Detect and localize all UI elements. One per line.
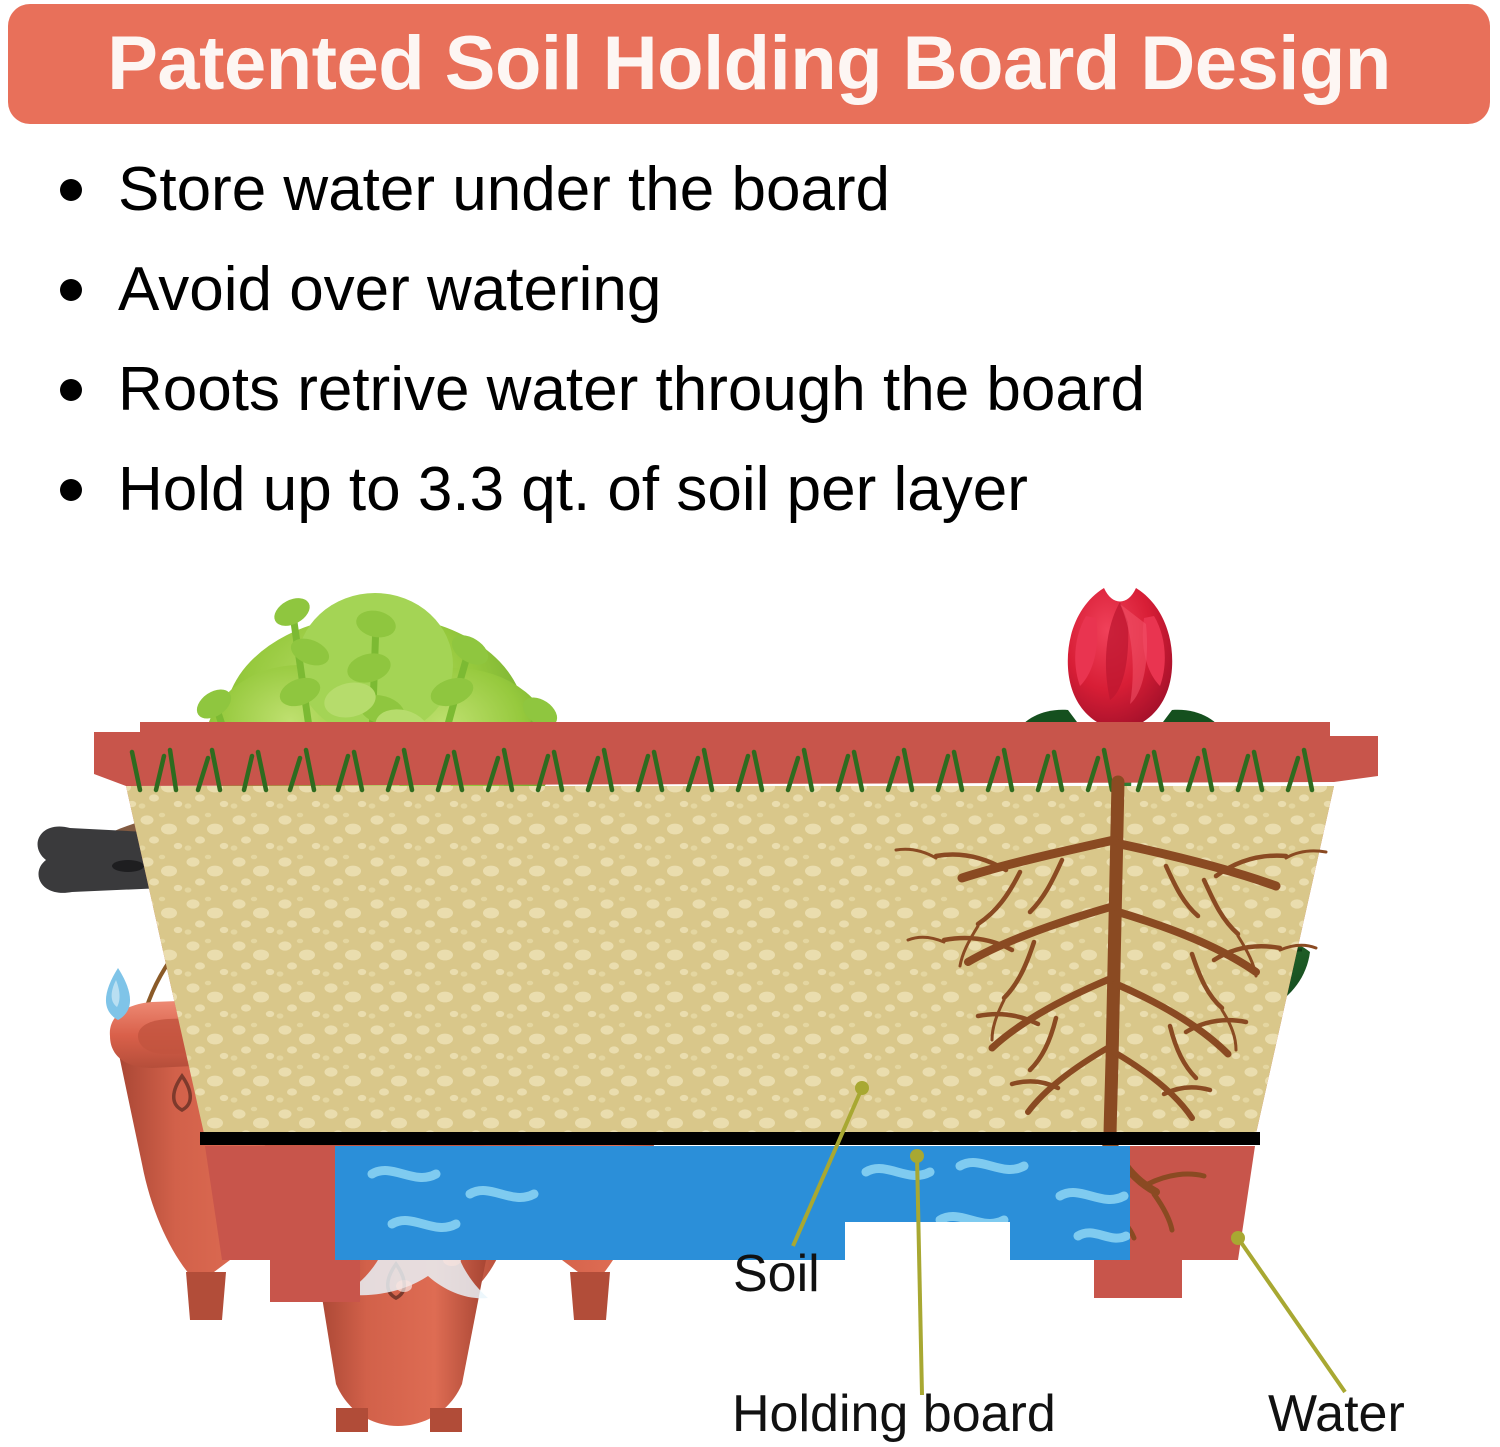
feature-item: Roots retrive water through the board [0, 340, 1500, 440]
feature-text: Roots retrive water through the board [118, 359, 1145, 421]
label-holding-board: Holding board [732, 1388, 1056, 1440]
bullet-dot-icon [60, 279, 82, 301]
bullet-dot-icon [60, 479, 82, 501]
holding-board-line-icon [200, 1132, 1260, 1145]
feature-text: Hold up to 3.3 qt. of soil per layer [118, 459, 1028, 521]
leader-line-water [1238, 1238, 1345, 1392]
feature-list: Store water under the board Avoid over w… [0, 140, 1500, 540]
header-banner: Patented Soil Holding Board Design [8, 4, 1490, 124]
feature-item: Store water under the board [0, 140, 1500, 240]
feature-item: Hold up to 3.3 qt. of soil per layer [0, 440, 1500, 540]
feature-text: Avoid over watering [118, 259, 661, 321]
label-soil: Soil [733, 1248, 820, 1300]
bullet-dot-icon [60, 179, 82, 201]
feature-item: Avoid over watering [0, 240, 1500, 340]
feature-text: Store water under the board [118, 159, 890, 221]
label-water: Water [1268, 1388, 1405, 1440]
bullet-dot-icon [60, 379, 82, 401]
illustration-area [0, 560, 1500, 1447]
page-title: Patented Soil Holding Board Design [107, 26, 1391, 102]
